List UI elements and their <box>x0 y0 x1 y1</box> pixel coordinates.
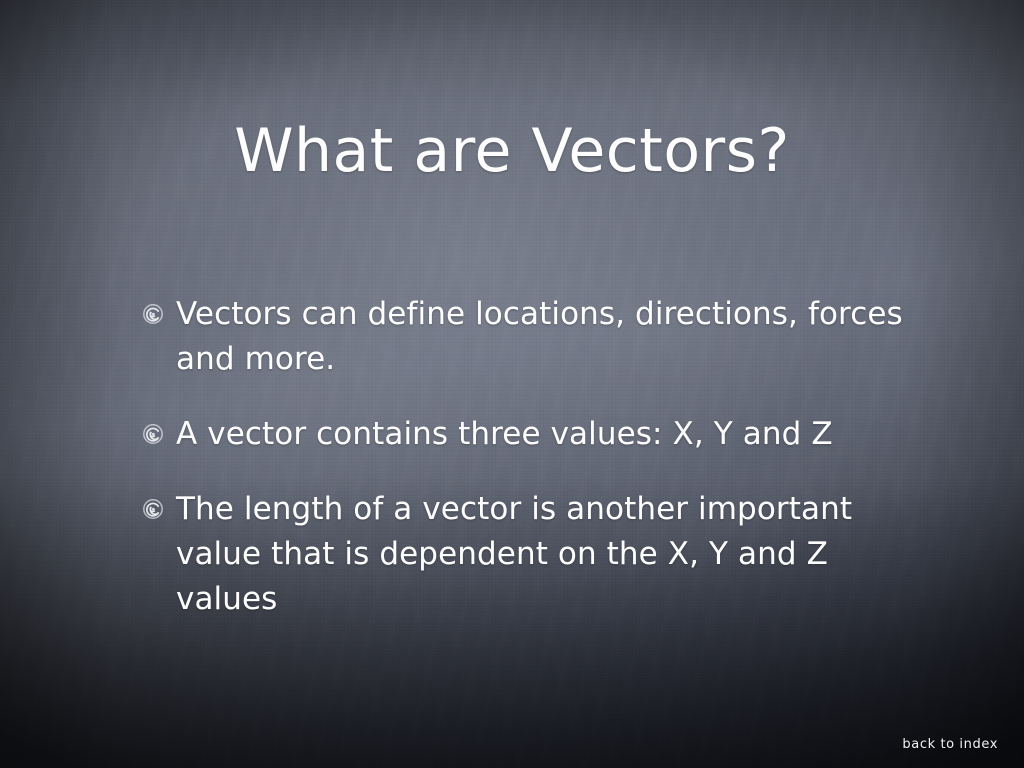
list-item-label: The length of a vector is another import… <box>176 487 930 622</box>
list-item: Vectors can define locations, directions… <box>140 292 930 382</box>
spiral-shell-bullet-icon <box>142 303 164 325</box>
bullet-list: Vectors can define locations, directions… <box>140 292 930 622</box>
list-item: A vector contains three values: X, Y and… <box>140 412 930 457</box>
list-item: The length of a vector is another import… <box>140 487 930 622</box>
back-to-index-link[interactable]: back to index <box>902 737 998 752</box>
spiral-shell-bullet-icon <box>142 498 164 520</box>
list-item-label: A vector contains three values: X, Y and… <box>176 412 930 457</box>
slide-content: What are Vectors? Vectors can define loc… <box>0 0 1024 768</box>
slide-canvas: What are Vectors? Vectors can define loc… <box>0 0 1024 768</box>
page-title: What are Vectors? <box>0 116 1024 186</box>
spiral-shell-bullet-icon <box>142 423 164 445</box>
list-item-label: Vectors can define locations, directions… <box>176 292 930 382</box>
